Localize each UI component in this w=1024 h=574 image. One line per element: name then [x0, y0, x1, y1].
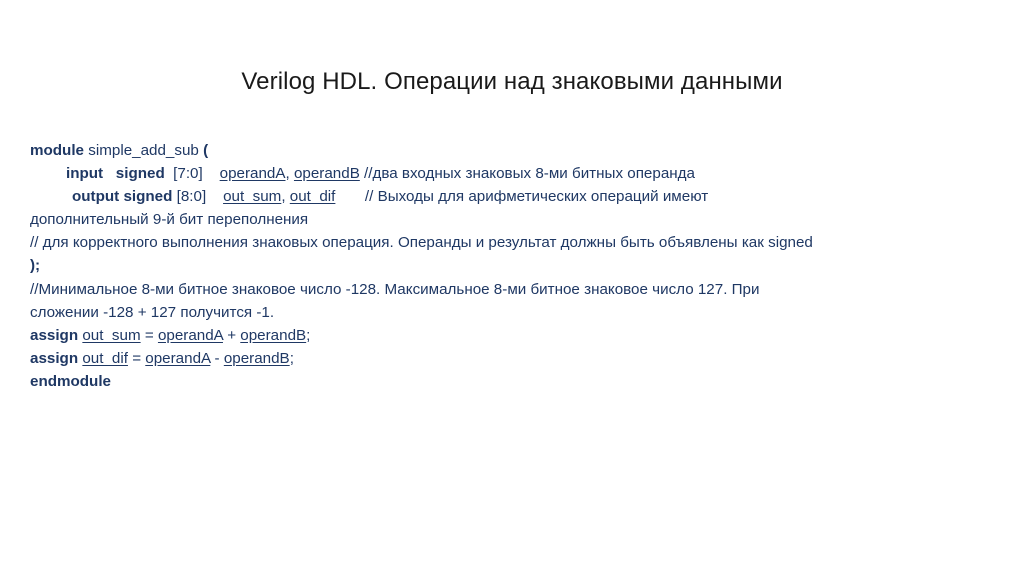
line-comment-3-token-0: //Минимальное 8-ми битное знаковое число… [30, 281, 759, 298]
line-input-token-2: signed [116, 165, 165, 182]
line-module-token-0: module [30, 142, 84, 159]
line-comment-2-token-0: // для корректного выполнения знаковых о… [30, 234, 813, 251]
line-assign-dif-token-5: - [210, 350, 224, 367]
line-input-token-8: //два входных знаковых 8-ми битных опера… [360, 165, 695, 182]
line-output-token-4: , [281, 188, 289, 205]
line-assign-sum-token-6: operandB [240, 327, 306, 344]
line-input-token-6: , [286, 165, 294, 182]
line-output-token-3: out_sum [223, 188, 281, 205]
line-assign-sum-token-7: ; [306, 327, 310, 344]
line-input-token-7: operandB [294, 165, 360, 182]
line-assign-dif-token-4: operandA [145, 350, 210, 367]
line-input-token-4 [203, 165, 220, 182]
line-comment-3: //Минимальное 8-ми битное знаковое число… [30, 278, 990, 301]
line-assign-sum-token-3: = [141, 327, 158, 344]
line-output: output signed [8:0] out_sum, out_dif // … [30, 185, 990, 208]
line-comment-1: дополнительный 9-й бит переполнения [30, 208, 990, 231]
line-input-token-0: input [66, 165, 103, 182]
page-title: Verilog HDL. Операции над знаковыми данн… [0, 68, 1024, 96]
line-assign-dif: assign out_dif = operandA - operandB; [30, 347, 990, 370]
line-input-token-3: [7:0] [165, 165, 203, 182]
line-close-paren: ); [30, 254, 990, 277]
line-input-token-5: operandA [220, 165, 286, 182]
line-endmodule-token-0: endmodule [30, 373, 111, 390]
line-assign-sum: assign out_sum = operandA + operandB; [30, 324, 990, 347]
line-assign-sum-token-5: + [223, 327, 240, 344]
line-assign-dif-token-6: operandB [224, 350, 290, 367]
line-close-paren-token-0: ); [30, 257, 40, 274]
line-module-token-4: ( [203, 142, 208, 159]
line-endmodule: endmodule [30, 370, 990, 393]
line-output-token-1: [8:0] [172, 188, 206, 205]
slide-canvas: Verilog HDL. Операции над знаковыми данн… [0, 0, 1024, 574]
line-assign-dif-token-2: out_dif [82, 350, 128, 367]
line-module-token-2: simple_add_sub [88, 142, 199, 159]
line-output-token-6: // Выходы для арифметических операций им… [335, 188, 708, 205]
line-module: module simple_add_sub ( [30, 139, 990, 162]
line-assign-dif-token-7: ; [290, 350, 294, 367]
line-output-token-0: output signed [72, 188, 172, 205]
line-output-token-5: out_dif [290, 188, 336, 205]
line-comment-4-token-0: сложении -128 + 127 получится -1. [30, 304, 274, 321]
line-input: input signed [7:0] operandA, operandB //… [30, 162, 990, 185]
line-comment-1-token-0: дополнительный 9-й бит переполнения [30, 211, 308, 228]
code-listing: module simple_add_sub (input signed [7:0… [30, 139, 990, 393]
line-comment-2: // для корректного выполнения знаковых о… [30, 231, 990, 254]
line-assign-sum-token-0: assign [30, 327, 78, 344]
line-output-token-2 [206, 188, 223, 205]
line-assign-dif-token-3: = [128, 350, 145, 367]
line-comment-4: сложении -128 + 127 получится -1. [30, 301, 990, 324]
line-input-token-1 [103, 165, 116, 182]
line-assign-sum-token-4: operandA [158, 327, 223, 344]
line-assign-dif-token-0: assign [30, 350, 78, 367]
line-assign-sum-token-2: out_sum [82, 327, 140, 344]
